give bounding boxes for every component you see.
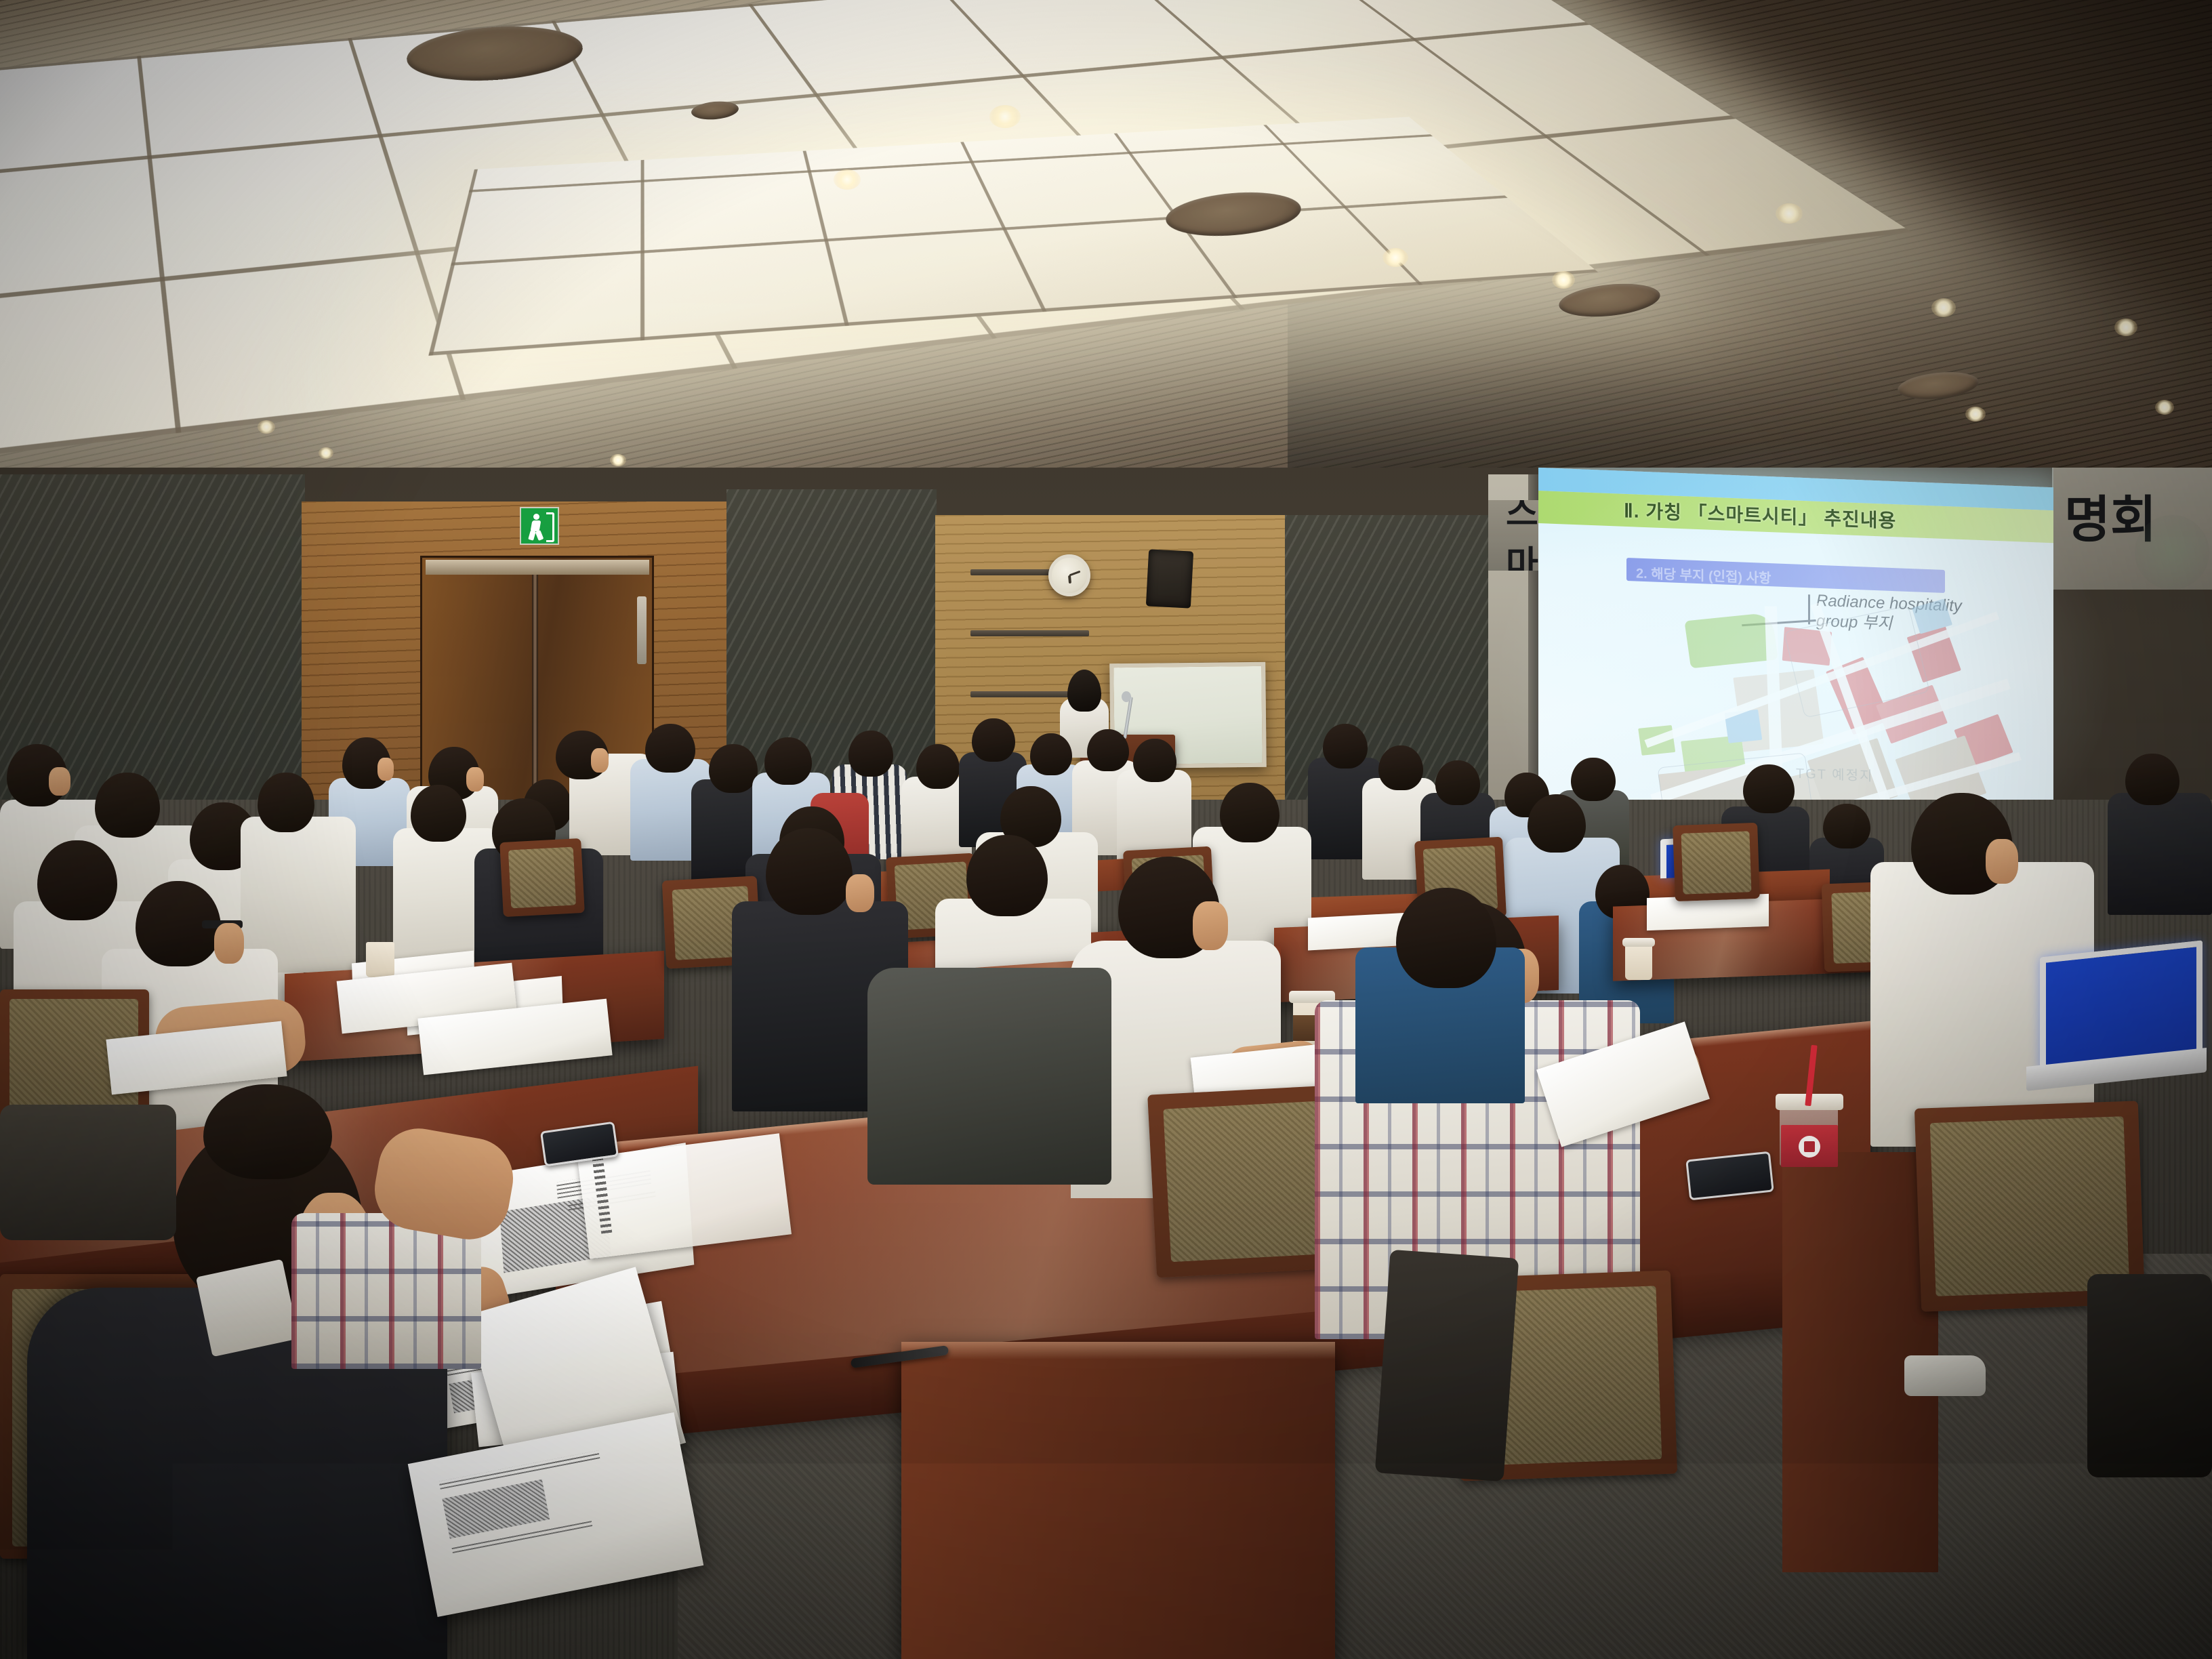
downlight-icon — [1552, 271, 1575, 289]
downlight-icon — [2155, 400, 2174, 415]
downlight-icon — [1382, 248, 1408, 267]
clock-minute-hand — [1069, 571, 1080, 577]
audience-face — [49, 767, 70, 796]
audience-face — [214, 923, 244, 964]
wall-banner-left: 스마 — [1488, 500, 1546, 571]
audience-head — [1571, 758, 1616, 801]
exit-sign-icon — [521, 508, 558, 544]
conference-room-photo: 스마 명회 Ⅱ. 가칭 「스마트시티」 추진내용 2. 해당 부지 (인접) 사… — [0, 0, 2212, 1659]
bag-on-floor — [2087, 1274, 2212, 1477]
audience-head — [2125, 754, 2179, 805]
table-pedestal-highlight — [901, 1342, 1335, 1359]
banner-emblem-icon — [2135, 515, 2209, 590]
bag-on-floor — [1375, 1250, 1519, 1481]
audience-head — [95, 773, 160, 838]
audience-head — [764, 737, 812, 785]
shoe — [1904, 1355, 1986, 1396]
jacket-over-chair — [867, 968, 1111, 1185]
audience-head — [1823, 804, 1870, 848]
audience-face — [846, 874, 874, 912]
microphone-head — [1122, 691, 1131, 702]
wall-speaker — [1146, 549, 1193, 608]
audience-head — [1220, 783, 1279, 842]
slide-map-label: TGT 예정지 — [1796, 762, 1873, 785]
audience-face — [377, 758, 394, 781]
audience-head — [1030, 733, 1072, 775]
audience-head — [848, 731, 893, 777]
audience-face — [591, 748, 609, 773]
audience-face — [466, 767, 484, 792]
downlight-icon — [989, 105, 1021, 128]
table-pedestal — [901, 1342, 1335, 1659]
audience-head — [1378, 745, 1423, 790]
clock-hour-hand — [1068, 575, 1071, 583]
downlight-icon — [2114, 319, 2137, 336]
paper-cup — [366, 942, 394, 977]
downlight-icon — [1931, 298, 1956, 317]
chair-seat-fabric — [1163, 1101, 1337, 1263]
audience-head — [1435, 760, 1480, 805]
audience-head — [645, 724, 695, 773]
downlight-icon — [319, 447, 333, 459]
audience-head — [411, 785, 466, 842]
audience-face — [1193, 901, 1228, 950]
exit-sign — [520, 507, 559, 545]
downlight-icon — [834, 169, 861, 190]
coffee-cup — [1625, 942, 1652, 980]
coffee-cup-lid — [1622, 938, 1655, 947]
audience-head — [1133, 739, 1176, 782]
audience-body — [0, 1105, 176, 1240]
door-transom — [426, 560, 649, 575]
audience-head — [972, 718, 1015, 762]
audience-head — [203, 1084, 332, 1179]
audience-head — [766, 828, 853, 915]
audience-body-right-edge — [2108, 793, 2212, 915]
audience-head — [916, 744, 960, 789]
chair-seat-fabric — [1930, 1116, 2130, 1296]
slide-subbar-text: 2. 해당 부지 (인접) 사항 — [1636, 562, 1771, 588]
door-handle[interactable] — [637, 596, 647, 664]
audience-head — [258, 773, 314, 832]
cup-logo-glyph — [1804, 1141, 1815, 1152]
wall-clock — [1048, 554, 1090, 596]
audience-head — [709, 744, 758, 793]
wall-shelf — [970, 630, 1089, 636]
chair-seat-fabric — [1681, 831, 1751, 894]
chair-seat-fabric — [508, 847, 576, 909]
audience-head — [37, 840, 117, 920]
audience-head — [1528, 794, 1586, 853]
audience-head — [1087, 729, 1129, 771]
downlight-icon — [1965, 407, 1986, 422]
audience-head — [1323, 724, 1368, 769]
audience-head — [1396, 888, 1496, 988]
downlight-icon — [610, 454, 626, 466]
downlight-icon — [258, 420, 275, 434]
audience-face — [1986, 839, 2018, 884]
audience-head — [966, 835, 1048, 916]
downlight-icon — [1776, 203, 1803, 224]
audience-head — [1743, 764, 1795, 813]
